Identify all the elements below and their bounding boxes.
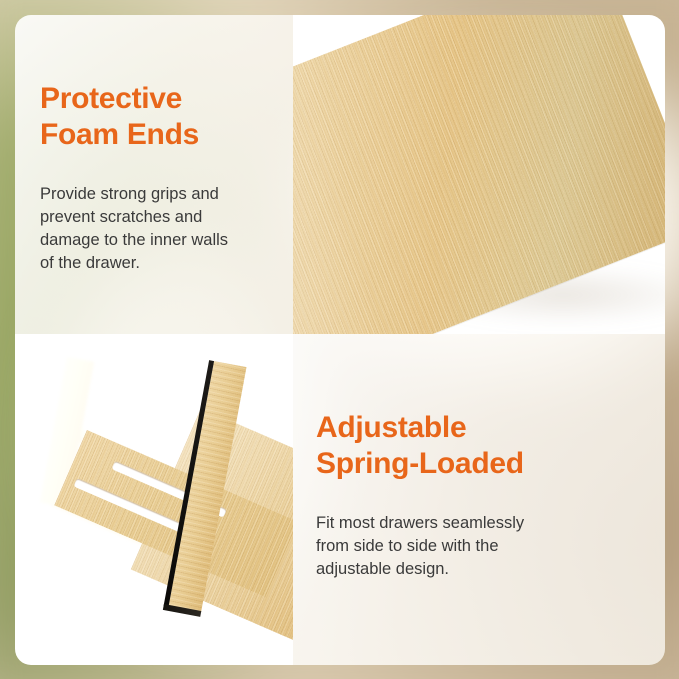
headline-adjustable-spring-loaded: Adjustable Spring-Loaded [316, 410, 524, 482]
body-protective-foam-ends: Provide strong grips and prevent scratch… [40, 183, 275, 275]
body-adjustable-spring-loaded: Fit most drawers seamlessly from side to… [316, 512, 576, 581]
panel-adjustable-spring-loaded: Adjustable Spring-Loaded Fit most drawer… [293, 334, 665, 665]
photo-bamboo-board-with-foam-edge [293, 15, 665, 334]
feature-grid: Protective Foam Ends Provide strong grip… [15, 15, 665, 665]
panel-protective-foam-ends: Protective Foam Ends Provide strong grip… [15, 15, 293, 334]
headline-protective-foam-ends: Protective Foam Ends [40, 81, 199, 153]
divider-stage [15, 334, 293, 665]
board-stage [293, 15, 665, 334]
photo-spring-loaded-divider [15, 334, 293, 665]
